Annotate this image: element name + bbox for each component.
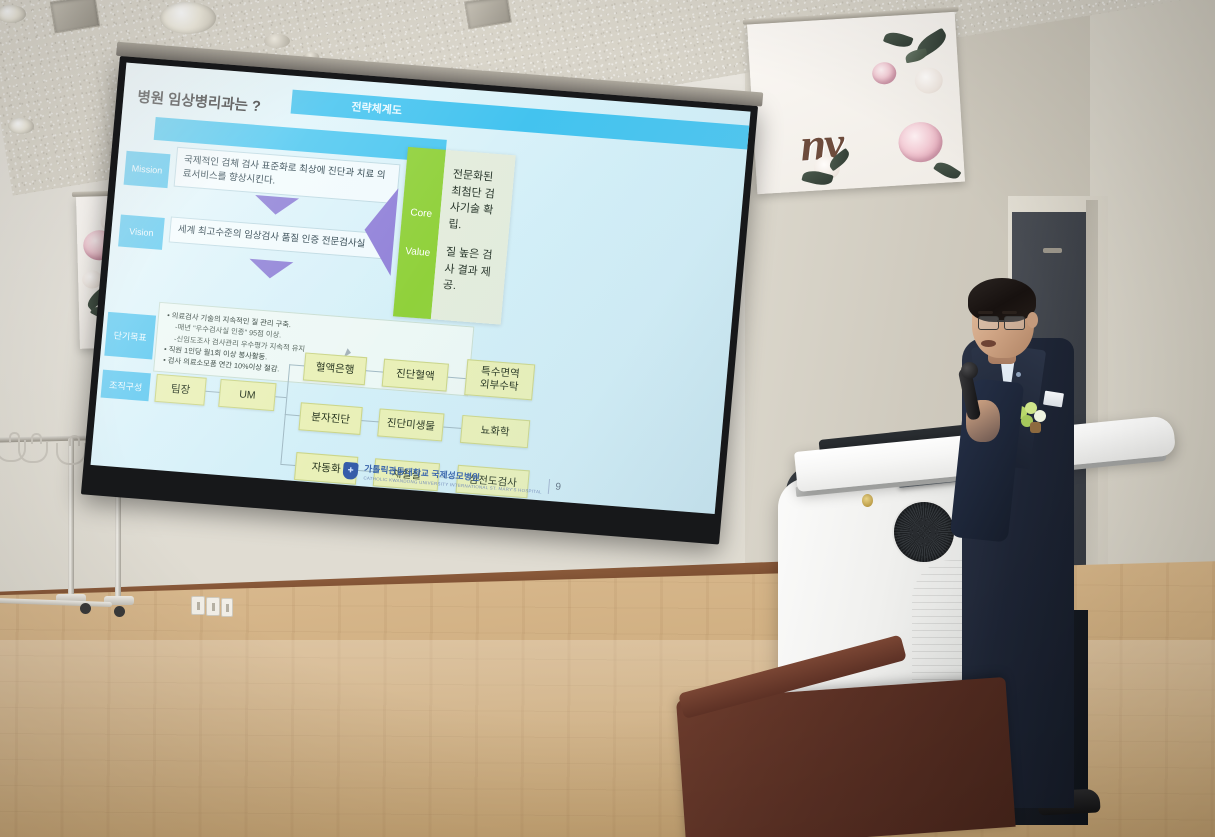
presentation-room-photo: ny — [0, 0, 1215, 837]
left-arrow-icon — [361, 186, 399, 276]
rose-icon — [872, 62, 897, 85]
org-node-team-lead: 팀장 — [154, 374, 206, 406]
corsage-petal — [1030, 422, 1041, 433]
core-value-text: 전문화된 최첨단 검사기술 확립. 질 높은 검사 결과 제공. — [431, 150, 516, 325]
wall-outlet — [191, 596, 205, 615]
core-value-panel: Core Value 전문화된 최첨단 검사기술 확립. 질 높은 검사 결과 … — [393, 147, 516, 325]
corsage-petal — [1034, 410, 1046, 422]
rack-caster — [80, 603, 91, 614]
speaker-hair — [968, 278, 1036, 322]
leaf-icon — [933, 159, 961, 183]
org-node-diagnostic-microbiology: 진단미생물 — [377, 408, 444, 441]
org-node-urine-chemistry: 뇨화학 — [460, 415, 530, 448]
hanger-icon — [56, 443, 86, 465]
org-connector — [280, 464, 295, 466]
floral-banner-right: ny — [747, 12, 965, 194]
white-rose-icon — [914, 67, 944, 95]
wall-outlet — [221, 598, 233, 617]
speaker-mouth — [981, 340, 996, 347]
hanger-icon — [18, 441, 48, 463]
ceiling-downlight-1 — [160, 2, 216, 34]
org-node-blood-bank: 혈액은행 — [303, 352, 367, 385]
vision-tag: Vision — [118, 215, 165, 250]
rose-icon — [897, 121, 943, 164]
eyeglasses-icon — [1004, 316, 1025, 330]
hospital-crest-icon: ✚ — [342, 461, 358, 479]
lectern-emblem-icon — [862, 494, 873, 507]
org-connector — [441, 426, 461, 429]
core-value-text-1: 전문화된 최첨단 검사기술 확립. — [448, 167, 507, 237]
core-value-text-2: 질 높은 검사 결과 제공. — [442, 244, 499, 297]
door-hook — [1043, 248, 1062, 253]
org-node-diagnostic-hematology: 진단혈액 — [382, 359, 449, 392]
leaf-icon — [904, 48, 928, 63]
leaf-icon — [883, 29, 914, 50]
org-node-special-immunology: 특수면역 외부수탁 — [464, 359, 535, 400]
down-arrow-icon — [254, 195, 299, 216]
rack-caster — [114, 606, 125, 617]
lectern-speaker-grille — [894, 502, 954, 562]
org-connector — [285, 414, 300, 416]
value-label: Value — [405, 246, 431, 259]
wall-outlet — [206, 597, 220, 616]
footer-divider — [548, 478, 550, 493]
speaker-jacket-button — [1016, 372, 1021, 377]
slide-title: 병원 임상병리과는 ? — [137, 86, 262, 117]
mission-tag: Mission — [124, 151, 171, 188]
slide-page-number: 9 — [555, 481, 562, 492]
speaker-eyebrow — [978, 311, 993, 314]
org-node-um: UM — [218, 379, 276, 411]
presentation-slide: 전략체계도 병원 임상병리과는 ? Mission 국제적인 검체 검사 표준화… — [91, 63, 751, 515]
org-node-molecular-diagnostics: 분자진단 — [298, 402, 362, 435]
org-structure-tag: 조직구성 — [101, 370, 151, 402]
ceiling-sprinkler-1 — [264, 34, 290, 48]
short-term-goal-tag: 단기목표 — [104, 312, 156, 360]
core-label: Core — [410, 207, 433, 220]
vision-text-box: 세계 최고수준의 임상검사 품질 인증 전문검사실 — [169, 216, 395, 259]
projection-screen: 전략체계도 병원 임상병리과는 ? Mission 국제적인 검체 검사 표준화… — [81, 56, 758, 544]
down-arrow-icon — [248, 259, 293, 280]
ceiling-downlight-2 — [8, 118, 34, 134]
speaker-eyebrow — [1002, 311, 1017, 314]
speaker-ear — [1027, 312, 1038, 328]
eyeglasses-bridge — [997, 320, 1004, 322]
eyeglasses-icon — [978, 316, 999, 330]
